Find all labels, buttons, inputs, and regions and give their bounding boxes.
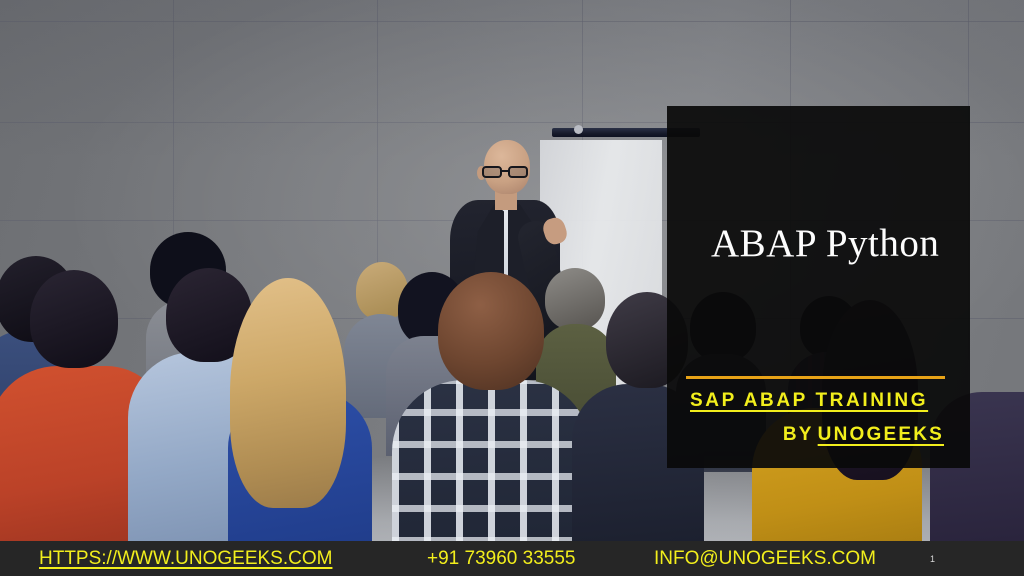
accent-divider (686, 376, 945, 379)
phone-number: +91 73960 33555 (427, 548, 575, 570)
glasses-bridge (502, 170, 508, 172)
contact-bar: HTTPS://WWW.UNOGEEKS.COM +91 73960 33555… (0, 541, 1024, 576)
glasses-lens-left (482, 166, 502, 178)
audience-head (545, 268, 605, 330)
website-link[interactable]: HTTPS://WWW.UNOGEEKS.COM (39, 548, 332, 570)
slide-root: ABAP Python SAP ABAP TRAINING BYUNOGEEKS… (0, 0, 1024, 576)
brand-name: UNOGEEKS (818, 424, 944, 445)
byline: BYUNOGEEKS (783, 424, 944, 446)
course-subtitle: SAP ABAP TRAINING (690, 390, 928, 412)
page-title: ABAP Python (711, 224, 939, 263)
audience-head (438, 272, 544, 390)
email-address: INFO@UNOGEEKS.COM (654, 548, 876, 570)
audience-head (30, 270, 118, 368)
title-panel: ABAP Python SAP ABAP TRAINING BYUNOGEEKS (667, 106, 970, 468)
audience-hair (230, 278, 346, 508)
glasses-lens-right (508, 166, 528, 178)
byline-label: BY (783, 424, 814, 445)
whiteboard-knob (574, 125, 583, 134)
presenter-glasses (482, 166, 532, 178)
page-number: 1 (930, 554, 935, 564)
